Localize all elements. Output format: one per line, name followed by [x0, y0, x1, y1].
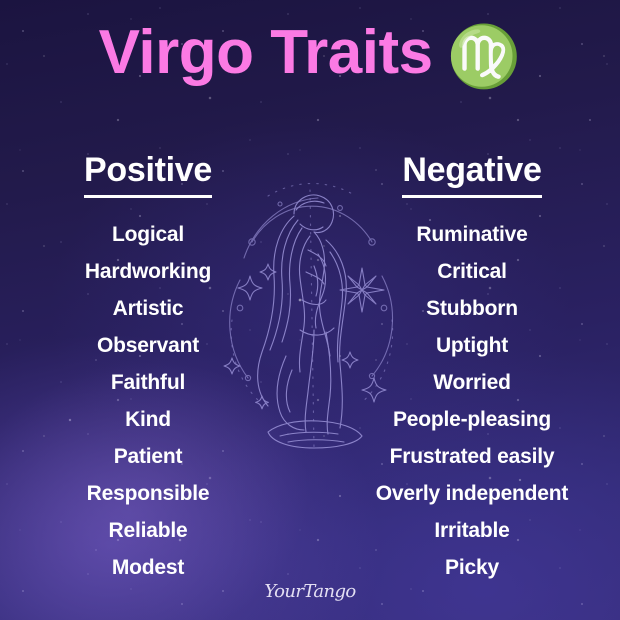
list-item: Reliable — [8, 512, 288, 549]
list-item: Critical — [332, 253, 612, 290]
positive-traits-column: Positive Logical Hardworking Artistic Ob… — [8, 152, 288, 586]
poster-title-row: Virgo Traits ♍ — [0, 22, 620, 84]
yourtango-wordmark: YourTango — [264, 581, 355, 602]
list-item: Kind — [8, 401, 288, 438]
negative-column-heading: Negative — [402, 152, 541, 198]
list-item: Worried — [332, 364, 612, 401]
negative-traits-list: Ruminative Critical Stubborn Uptight Wor… — [332, 216, 612, 586]
list-item: Frustrated easily — [332, 438, 612, 475]
list-item: Faithful — [8, 364, 288, 401]
virgo-traits-poster: Virgo Traits ♍ — [0, 0, 620, 620]
list-item: Responsible — [8, 475, 288, 512]
positive-traits-list: Logical Hardworking Artistic Observant F… — [8, 216, 288, 586]
negative-traits-column: Negative Ruminative Critical Stubborn Up… — [332, 152, 612, 586]
list-item: Logical — [8, 216, 288, 253]
list-item: Hardworking — [8, 253, 288, 290]
list-item: Observant — [8, 327, 288, 364]
footer-brand-logo: YourTango — [0, 581, 620, 602]
list-item: Irritable — [332, 512, 612, 549]
list-item: Uptight — [332, 327, 612, 364]
list-item: People-pleasing — [332, 401, 612, 438]
page-title: Virgo Traits — [99, 22, 433, 84]
list-item: Stubborn — [332, 290, 612, 327]
list-item: Patient — [8, 438, 288, 475]
positive-column-heading: Positive — [84, 152, 212, 198]
list-item: Ruminative — [332, 216, 612, 253]
virgo-zodiac-glyph-icon: ♍ — [447, 27, 522, 87]
list-item: Artistic — [8, 290, 288, 327]
list-item: Overly independent — [332, 475, 612, 512]
